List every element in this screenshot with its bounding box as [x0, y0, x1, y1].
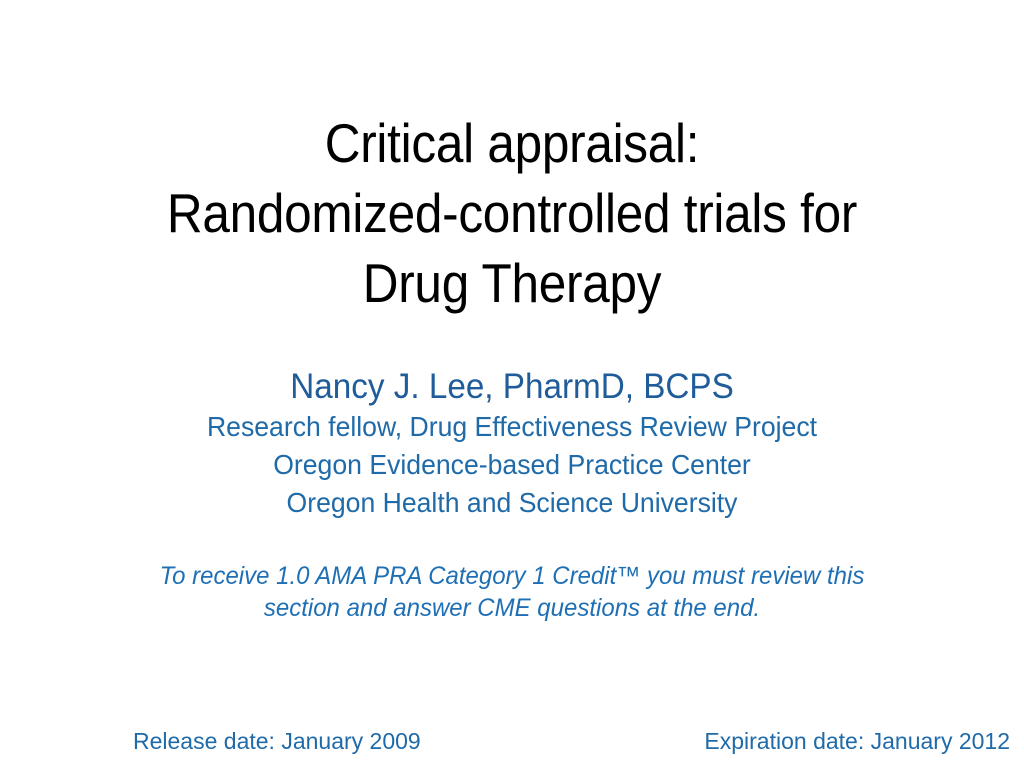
- title-line-1: Critical appraisal:: [105, 108, 919, 178]
- expiration-date: Expiration date: January 2012: [704, 727, 1010, 755]
- cme-notice-line-1: To receive 1.0 AMA PRA Category 1 Credit…: [136, 560, 889, 592]
- cme-notice-line-2: section and answer CME questions at the …: [136, 592, 889, 624]
- author-name: Nancy J. Lee, PharmD, BCPS: [132, 366, 892, 408]
- author-block: Nancy J. Lee, PharmD, BCPS Research fell…: [112, 366, 912, 522]
- presentation-slide: Critical appraisal: Randomized-controlle…: [0, 0, 1024, 768]
- title-line-3: Drug Therapy: [105, 248, 919, 318]
- author-institution: Oregon Health and Science University: [132, 484, 892, 522]
- author-center: Oregon Evidence-based Practice Center: [132, 446, 892, 484]
- slide-title: Critical appraisal: Randomized-controlle…: [60, 108, 964, 318]
- release-date: Release date: January 2009: [133, 727, 421, 755]
- author-role: Research fellow, Drug Effectiveness Revi…: [132, 408, 892, 446]
- cme-notice: To receive 1.0 AMA PRA Category 1 Credit…: [120, 560, 904, 624]
- title-line-2: Randomized-controlled trials for: [105, 178, 919, 248]
